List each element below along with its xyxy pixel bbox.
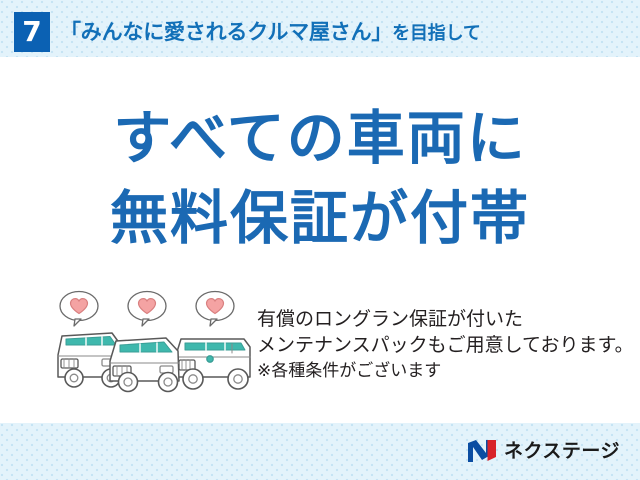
brand-name: ネクステージ [504, 437, 620, 465]
banner-header: 7 「みんなに愛されるクルマ屋さん」を目指して [0, 0, 640, 57]
nextage-n-logo-icon [467, 438, 497, 464]
car-minivan-center [110, 338, 179, 392]
description-line-1: 有償のロングラン保証が付いた [257, 306, 637, 332]
heart-bubble-2 [128, 292, 166, 327]
description-note: ※各種条件がございます [257, 358, 637, 384]
headline-line-2: 無料保証が付帯 [0, 189, 640, 247]
description-block: 有償のロングラン保証が付いた メンテナンスパックもご用意しております。 ※各種条… [257, 306, 637, 384]
cars-illustration [48, 289, 260, 401]
heart-bubble-1 [60, 292, 98, 327]
headline-line-1: すべての車両に [0, 109, 640, 167]
cars-illustration-svg [48, 289, 260, 401]
header-title-quoted: 「みんなに愛されるクルマ屋さん」 [60, 20, 392, 44]
heart-bubble-3 [196, 292, 234, 327]
warranty-banner: 7 「みんなに愛されるクルマ屋さん」を目指して すべての車両に 無料保証が付帯 [0, 0, 640, 480]
section-number-badge: 7 [14, 12, 50, 52]
brand-lockup: ネクステージ [467, 437, 620, 465]
description-line-2: メンテナンスパックもご用意しております。 [257, 332, 637, 358]
header-title-suffix: を目指して [392, 23, 480, 44]
banner-footer: ネクステージ [0, 423, 640, 480]
header-title: 「みんなに愛されるクルマ屋さん」を目指して [60, 13, 481, 51]
banner-main: すべての車両に 無料保証が付帯 [0, 57, 640, 423]
car-suv-right [176, 339, 250, 389]
